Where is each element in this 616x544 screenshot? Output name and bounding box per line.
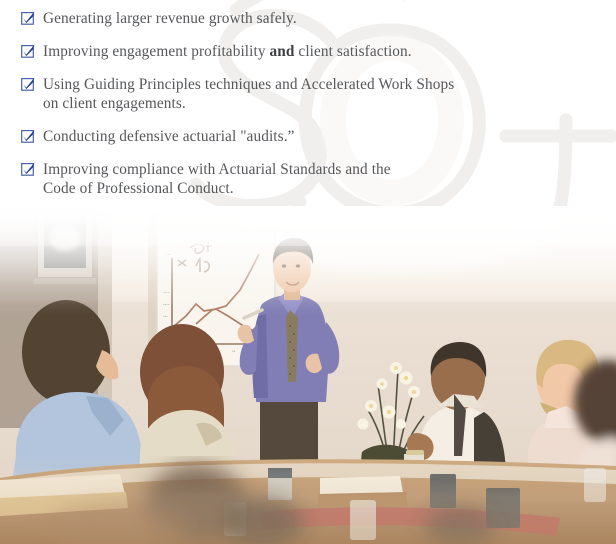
slide: Generating larger revenue growth safely.… [0, 0, 616, 544]
checkbox-checked-icon [21, 44, 35, 58]
list-item: Conducting defensive actuarial "audits.” [0, 127, 616, 146]
list-item-line: Using Guiding Principles techniques and … [43, 76, 454, 93]
checkbox-checked-icon [21, 129, 35, 143]
list-item: Using Guiding Principles techniques and … [0, 75, 616, 113]
list-item-label: Conducting defensive actuarial "audits.” [43, 127, 616, 146]
emphasis-and: and [270, 43, 295, 60]
list-item: Improving compliance with Actuarial Stan… [0, 160, 616, 198]
list-item-line: on client engagements. [43, 95, 186, 112]
checkbox-checked-icon [21, 162, 35, 176]
list-item-line: Code of Professional Conduct. [43, 180, 234, 197]
list-item: Generating larger revenue growth safely. [0, 9, 616, 28]
list-item-line: Improving compliance with Actuarial Stan… [43, 161, 391, 178]
business-meeting-photo: •••••• ••••••• ••••••• ••••••••• [0, 206, 616, 544]
list-item-label: Improving engagement profitability and c… [43, 42, 616, 61]
list-item-label: Improving compliance with Actuarial Stan… [43, 160, 616, 198]
checkbox-checked-icon [21, 11, 35, 25]
bullet-list: Generating larger revenue growth safely.… [0, 0, 616, 198]
list-item-label: Generating larger revenue growth safely. [43, 9, 616, 28]
list-item-label: Using Guiding Principles techniques and … [43, 75, 616, 113]
checkbox-checked-icon [21, 77, 35, 91]
list-item: Improving engagement profitability and c… [0, 42, 616, 61]
